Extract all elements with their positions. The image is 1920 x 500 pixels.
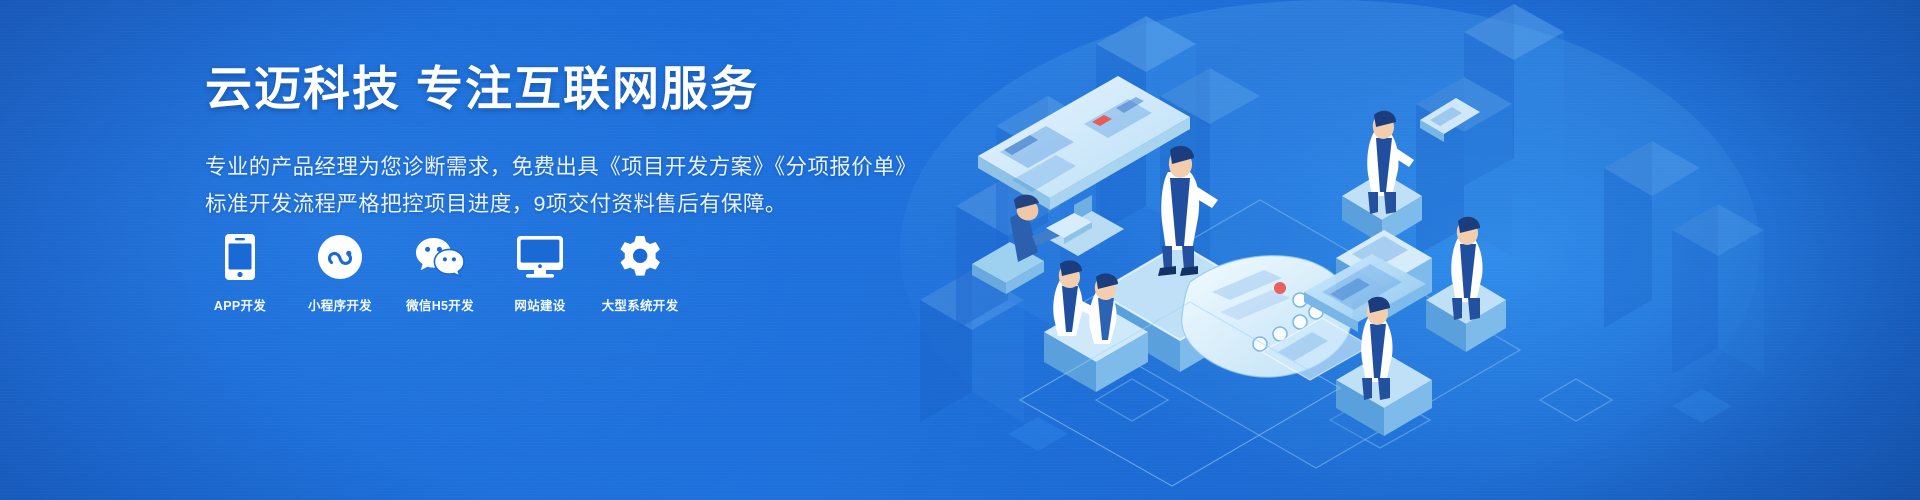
wechat-icon (403, 232, 477, 282)
service-item-app[interactable]: APP开发 (203, 232, 277, 314)
monitor-icon (503, 232, 577, 282)
hero-illustration (860, 0, 1920, 500)
service-item-large-system[interactable]: 大型系统开发 (603, 232, 677, 314)
hero-subtitle: 专业的产品经理为您诊断需求，免费出具《项目开发方案》《分项报价单》 标准开发流程… (205, 149, 965, 223)
mobile-phone-icon (203, 232, 277, 282)
service-item-wechat-h5[interactable]: 微信H5开发 (403, 232, 477, 314)
service-label: 微信H5开发 (406, 295, 474, 314)
service-label: APP开发 (214, 295, 266, 314)
service-item-miniprogram[interactable]: 小程序开发 (303, 232, 377, 314)
page-title: 云迈科技 专注互联网服务 (205, 60, 965, 119)
mini-program-icon (303, 232, 377, 282)
hero-content: 云迈科技 专注互联网服务 专业的产品经理为您诊断需求，免费出具《项目开发方案》《… (205, 60, 965, 223)
subtitle-line-1: 专业的产品经理为您诊断需求，免费出具《项目开发方案》《分项报价单》 (205, 149, 965, 186)
gear-icon (603, 232, 677, 282)
service-label: 大型系统开发 (602, 295, 679, 314)
subtitle-line-2: 标准开发流程严格把控项目进度，9项交付资料售后有保障。 (205, 186, 965, 223)
hero-banner: 云迈科技 专注互联网服务 专业的产品经理为您诊断需求，免费出具《项目开发方案》《… (0, 0, 1920, 500)
service-label: 小程序开发 (308, 295, 372, 314)
service-item-website[interactable]: 网站建设 (503, 232, 577, 314)
service-label: 网站建设 (514, 295, 565, 314)
service-list: APP开发 小程序开发 (203, 232, 677, 314)
